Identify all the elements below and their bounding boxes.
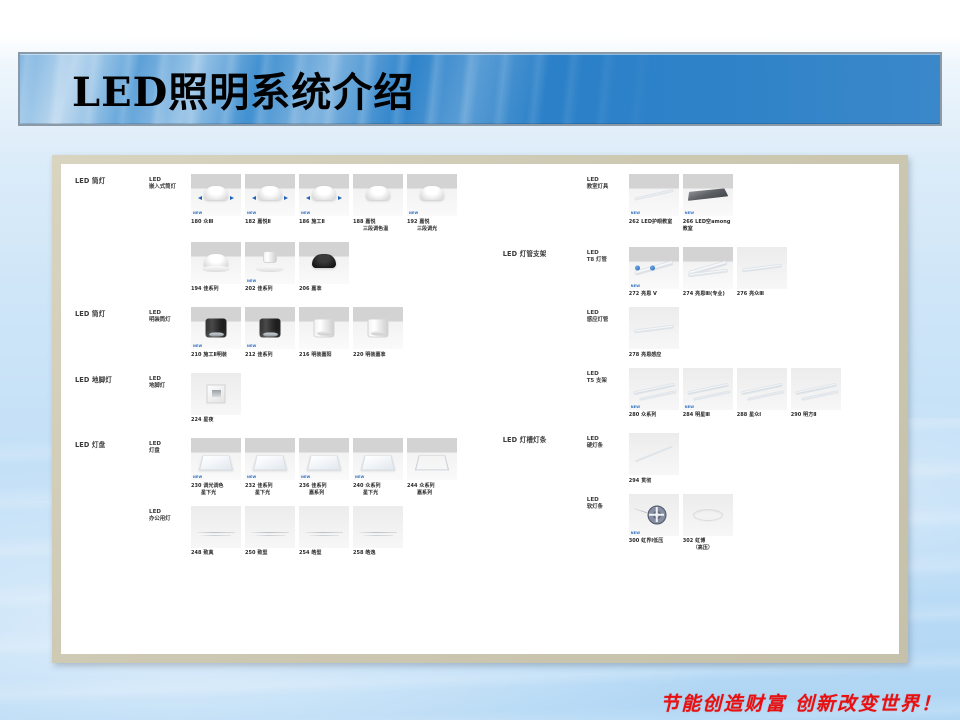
section-title: LED 筒灯 xyxy=(75,174,149,302)
product-caption: 290 明方Ⅱ xyxy=(791,412,841,419)
catalog-group: LED 教室灯具 NEW 262 LED护眼教室 NEW 266 LED空amo… xyxy=(587,174,899,233)
product-caption: 216 明装嘉阳 xyxy=(299,352,349,359)
catalog-item[interactable]: 248 致真 xyxy=(191,506,241,558)
section-groups: LED 嵌入式筒灯 NEW 180 众Ⅲ NEW 182 嘉悦Ⅱ NEW xyxy=(149,174,497,302)
product-name: 众Ⅲ xyxy=(203,219,213,225)
new-badge: NEW xyxy=(301,475,311,479)
group-items: 194 佳系列 NEW 202 佳系列 206 嘉准 xyxy=(191,242,497,294)
new-badge: NEW xyxy=(301,211,311,215)
t8-single-icon xyxy=(629,307,679,349)
group-title: LED 感应灯管 xyxy=(587,307,629,359)
group-items: NEW 210 施工Ⅱ明装 NEW 212 佳系列 216 明装嘉阳 xyxy=(191,307,497,359)
catalog-item[interactable]: NEW 210 施工Ⅱ明装 xyxy=(191,307,241,359)
group-title: LED T8 灯管 xyxy=(587,247,629,299)
product-number: 224 xyxy=(191,417,202,423)
product-thumbnail[interactable] xyxy=(683,247,733,289)
catalog-group: LED 感应灯管 278 亮恩感应 xyxy=(587,307,899,359)
product-number: 232 xyxy=(245,483,256,489)
product-caption: 230 调光调色 星下光 xyxy=(191,483,241,497)
catalog-item[interactable]: NEW 182 嘉悦Ⅱ xyxy=(245,174,295,233)
downlight-deep-icon xyxy=(191,242,241,284)
product-number: 274 xyxy=(683,291,694,297)
catalog-item[interactable]: NEW 240 众系列 星下光 xyxy=(353,438,403,497)
t5-icon xyxy=(683,368,733,410)
group-label-cn: 嵌入式筒灯 xyxy=(149,184,191,192)
product-number: 288 xyxy=(737,412,748,418)
section-title: LED 灯槽灯条 xyxy=(503,433,587,561)
downlight-arrows-icon xyxy=(245,174,295,216)
dark-fixture-icon xyxy=(683,174,733,216)
product-thumbnail[interactable]: NEW xyxy=(629,174,679,216)
product-name: 皓型 xyxy=(311,550,321,556)
section-groups: LED 教室灯具 NEW 262 LED护眼教室 NEW 266 LED空amo… xyxy=(587,174,899,242)
product-name: LED护眼教室 xyxy=(641,219,672,225)
product-number: 210 xyxy=(191,352,202,358)
catalog-section: LED 地脚灯 LED 地脚灯 224 星夜 xyxy=(75,373,497,434)
product-caption: 258 皓逸 xyxy=(353,550,403,557)
catalog-item[interactable]: NEW 230 调光调色 星下光 xyxy=(191,438,241,497)
product-name: 星夜 xyxy=(203,417,213,423)
product-thumbnail[interactable] xyxy=(629,433,679,475)
product-caption: 202 佳系列 xyxy=(245,286,295,293)
catalog-group: LED 嵌入式筒灯 NEW 180 众Ⅲ NEW 182 嘉悦Ⅱ NEW xyxy=(149,174,497,233)
product-name: 虹博 xyxy=(695,538,705,544)
product-caption: 232 佳系列 星下光 xyxy=(245,483,295,497)
catalog-page: LED 筒灯 LED 嵌入式筒灯 NEW 180 众Ⅲ NEW 182 嘉悦Ⅱ xyxy=(61,164,899,654)
product-thumbnail[interactable]: NEW xyxy=(353,438,403,480)
catalog-item[interactable]: NEW 266 LED空among教室 xyxy=(683,174,733,233)
catalog-group: LED 办公用灯 248 致真 250 致型 xyxy=(149,506,497,558)
group-title: LED 软灯条 xyxy=(587,494,629,553)
product-name: 明装嘉阳 xyxy=(311,352,331,358)
product-thumbnail[interactable]: NEW xyxy=(629,247,679,289)
new-badge: NEW xyxy=(409,211,419,215)
product-thumbnail[interactable] xyxy=(191,373,241,415)
product-caption: 288 星众Ⅰ xyxy=(737,412,787,419)
product-thumbnail[interactable] xyxy=(629,307,679,349)
new-badge: NEW xyxy=(247,344,257,348)
product-caption: 192 嘉悦 三段调光 xyxy=(407,219,457,233)
group-items: NEW 300 虹界Ⅰ低压 302 虹博 （高压） xyxy=(629,494,899,553)
cyl-light-icon xyxy=(299,307,349,349)
product-name: 施工Ⅱ xyxy=(311,219,324,225)
group-label-cn: 感应灯管 xyxy=(587,317,629,325)
t5-icon xyxy=(791,368,841,410)
catalog-item[interactable]: 258 皓逸 xyxy=(353,506,403,558)
product-number: 182 xyxy=(245,219,256,225)
office-bar-icon xyxy=(353,506,403,548)
catalog-item[interactable]: NEW 300 虹界Ⅰ低压 xyxy=(629,494,679,553)
new-badge: NEW xyxy=(193,344,203,348)
group-title: LED 办公用灯 xyxy=(149,506,191,558)
catalog-group: LED T5 支架 NEW 280 众系列 NEW 284 明星Ⅲ xyxy=(587,368,899,420)
catalog-item[interactable]: NEW 280 众系列 xyxy=(629,368,679,420)
product-thumbnail[interactable]: NEW xyxy=(245,438,295,480)
product-thumbnail[interactable] xyxy=(299,242,349,284)
section-groups: LED T8 灯管 NEW 272 亮恩 V 274 亮恩Ⅲ(专业) xyxy=(587,247,899,429)
product-thumbnail[interactable] xyxy=(737,247,787,289)
product-caption: 276 亮众Ⅲ xyxy=(737,291,787,298)
catalog-item[interactable]: 274 亮恩Ⅲ(专业) xyxy=(683,247,733,299)
product-sub-label: 星下光 xyxy=(245,490,295,497)
product-caption: 236 佳系列 嘉系列 xyxy=(299,483,349,497)
product-number: 206 xyxy=(299,286,310,292)
group-label-cn: 教室灯具 xyxy=(587,184,629,192)
group-items: NEW 280 众系列 NEW 284 明星Ⅲ 288 星众Ⅰ xyxy=(629,368,899,420)
product-caption: 272 亮恩 V xyxy=(629,291,679,298)
group-title: LED 灯盘 xyxy=(149,438,191,497)
product-thumbnail[interactable]: NEW xyxy=(191,174,241,216)
group-label-en: LED xyxy=(149,176,191,184)
panel-icon xyxy=(191,438,241,480)
product-thumbnail[interactable] xyxy=(407,438,457,480)
title-banner: LED照明系统介绍 xyxy=(18,52,942,126)
product-sub-label: 三段调色温 xyxy=(353,226,403,233)
group-label-cn: 地脚灯 xyxy=(149,383,191,391)
group-label-cn: 硬灯条 xyxy=(587,443,629,451)
catalog-item[interactable]: 224 星夜 xyxy=(191,373,241,425)
new-badge: NEW xyxy=(247,211,257,215)
product-name: 致真 xyxy=(203,550,213,556)
product-sub-label: 星下光 xyxy=(353,490,403,497)
new-badge: NEW xyxy=(685,405,695,409)
group-label-en: LED xyxy=(149,440,191,448)
product-name: 虹界Ⅰ低压 xyxy=(641,538,663,544)
product-sub-label: 星下光 xyxy=(191,490,241,497)
new-badge: NEW xyxy=(193,475,203,479)
group-title: LED 硬灯条 xyxy=(587,433,629,485)
product-number: 192 xyxy=(407,219,418,225)
catalog-item[interactable]: 250 致型 xyxy=(245,506,295,558)
product-name: 嘉准 xyxy=(311,286,321,292)
product-caption: 240 众系列 星下光 xyxy=(353,483,403,497)
catalog-item[interactable]: NEW 202 佳系列 xyxy=(245,242,295,294)
catalog-item[interactable]: 290 明方Ⅱ xyxy=(791,368,841,420)
catalog-section: LED 筒灯 LED 明装筒灯 NEW 210 施工Ⅱ明装 NEW 212 佳系… xyxy=(75,307,497,368)
product-name: 明装嘉准 xyxy=(365,352,385,358)
product-number: 236 xyxy=(299,483,310,489)
office-bar-icon xyxy=(245,506,295,548)
product-caption: 278 亮恩感应 xyxy=(629,352,679,359)
product-name: 众系列 xyxy=(641,412,656,418)
downlight-plain-icon xyxy=(407,174,457,216)
product-caption: 250 致型 xyxy=(245,550,295,557)
product-name: 致型 xyxy=(257,550,267,556)
new-badge: NEW xyxy=(631,405,641,409)
catalog-group: LED 软灯条 NEW 300 虹界Ⅰ低压 302 虹博 （高压） xyxy=(587,494,899,553)
product-name: 贯彻 xyxy=(641,478,651,484)
product-name: 亮恩Ⅲ(专业) xyxy=(695,291,725,297)
product-number: 284 xyxy=(683,412,694,418)
product-caption: 300 虹界Ⅰ低压 xyxy=(629,538,679,545)
product-sub-label: 嘉系列 xyxy=(299,490,349,497)
product-caption: 188 嘉悦 三段调色温 xyxy=(353,219,403,233)
cyl-dark-icon xyxy=(245,307,295,349)
new-badge: NEW xyxy=(247,279,257,283)
catalog-item[interactable]: NEW 236 佳系列 嘉系列 xyxy=(299,438,349,497)
product-thumbnail[interactable] xyxy=(191,242,241,284)
product-thumbnail[interactable]: NEW xyxy=(683,174,733,216)
coil-icon xyxy=(683,494,733,536)
section-title xyxy=(503,174,587,242)
product-thumbnail[interactable] xyxy=(191,506,241,548)
group-label-cn: 办公用灯 xyxy=(149,516,191,524)
slide-canvas: LED照明系统介绍 LED 筒灯 LED 嵌入式筒灯 NEW 180 众Ⅲ NE… xyxy=(0,0,960,720)
group-label-en: LED xyxy=(587,176,629,184)
group-label-en: LED xyxy=(149,375,191,383)
product-name: 佳系列 xyxy=(257,483,272,489)
catalog-item[interactable]: NEW 232 佳系列 星下光 xyxy=(245,438,295,497)
product-caption: 280 众系列 xyxy=(629,412,679,419)
product-number: 276 xyxy=(737,291,748,297)
catalog-section: LED 灯槽灯条 LED 硬灯条 294 贯彻 LED 软灯条 NEW xyxy=(503,433,899,561)
product-name: 亮众Ⅲ xyxy=(749,291,764,297)
catalog-item[interactable]: 254 皓型 xyxy=(299,506,349,558)
product-caption: 186 施工Ⅱ xyxy=(299,219,349,226)
product-caption: 254 皓型 xyxy=(299,550,349,557)
product-name: 佳系列 xyxy=(311,483,326,489)
panel-icon xyxy=(299,438,349,480)
product-thumbnail[interactable]: NEW xyxy=(245,242,295,284)
new-badge: NEW xyxy=(247,475,257,479)
section-title: LED 地脚灯 xyxy=(75,373,149,434)
catalog-group: 194 佳系列 NEW 202 佳系列 206 嘉准 xyxy=(149,242,497,294)
office-bar-icon xyxy=(191,506,241,548)
product-number: 280 xyxy=(629,412,640,418)
group-title xyxy=(149,242,191,294)
catalog-group: LED 灯盘 NEW 230 调光调色 星下光 NEW 232 佳系列 星下光 … xyxy=(149,438,497,497)
product-thumbnail[interactable]: NEW xyxy=(629,494,679,536)
pendant-tube-icon xyxy=(629,174,679,216)
group-label-en: LED xyxy=(587,370,629,378)
product-thumbnail[interactable]: NEW xyxy=(299,174,349,216)
product-number: 216 xyxy=(299,352,310,358)
catalog-left-column: LED 筒灯 LED 嵌入式筒灯 NEW 180 众Ⅲ NEW 182 嘉悦Ⅱ xyxy=(61,174,497,654)
product-name: 星众Ⅰ xyxy=(749,412,761,418)
product-caption: 248 致真 xyxy=(191,550,241,557)
group-items: 248 致真 250 致型 254 皓型 xyxy=(191,506,497,558)
product-caption: 262 LED护眼教室 xyxy=(629,219,679,226)
section-title: LED 筒灯 xyxy=(75,307,149,368)
product-number: 250 xyxy=(245,550,256,556)
section-groups: LED 地脚灯 224 星夜 xyxy=(149,373,497,434)
cyl-dark-icon xyxy=(191,307,241,349)
catalog-item[interactable]: 220 明装嘉准 xyxy=(353,307,403,359)
group-items: 224 星夜 xyxy=(191,373,497,425)
downlight-plain-icon xyxy=(353,174,403,216)
product-number: 302 xyxy=(683,538,694,544)
product-number: 300 xyxy=(629,538,640,544)
downlight-arrows-icon xyxy=(299,174,349,216)
product-thumbnail[interactable]: NEW xyxy=(191,438,241,480)
product-thumbnail[interactable]: NEW xyxy=(191,307,241,349)
group-label-cn: 软灯条 xyxy=(587,504,629,512)
catalog-section: LED 灯管支架 LED T8 灯管 NEW 272 亮恩 V 274 亮恩Ⅲ(… xyxy=(503,247,899,429)
product-sub-label: 三段调光 xyxy=(407,226,457,233)
product-name: 嘉悦 xyxy=(365,219,375,225)
product-sub-label: （高压） xyxy=(683,545,733,552)
product-caption: 274 亮恩Ⅲ(专业) xyxy=(683,291,733,298)
product-name: 佳系列 xyxy=(257,352,272,358)
group-items: 294 贯彻 xyxy=(629,433,899,485)
catalog-item[interactable]: 216 明装嘉阳 xyxy=(299,307,349,359)
catalog-frame: LED 筒灯 LED 嵌入式筒灯 NEW 180 众Ⅲ NEW 182 嘉悦Ⅱ xyxy=(52,155,908,663)
product-thumbnail[interactable] xyxy=(683,494,733,536)
product-thumbnail[interactable] xyxy=(353,174,403,216)
catalog-item[interactable]: NEW 192 嘉悦 三段调光 xyxy=(407,174,457,233)
product-thumbnail[interactable]: NEW xyxy=(299,438,349,480)
catalog-item[interactable]: 278 亮恩感应 xyxy=(629,307,679,359)
group-title: LED 地脚灯 xyxy=(149,373,191,425)
new-badge: NEW xyxy=(193,211,203,215)
panel-outline-icon xyxy=(407,438,457,480)
downlight-arrows-icon xyxy=(191,174,241,216)
group-items: NEW 272 亮恩 V 274 亮恩Ⅲ(专业) 276 亮众Ⅲ xyxy=(629,247,899,299)
product-caption: 210 施工Ⅱ明装 xyxy=(191,352,241,359)
product-thumbnail[interactable] xyxy=(791,368,841,410)
product-caption: 266 LED空among教室 xyxy=(683,219,733,233)
product-caption: 284 明星Ⅲ xyxy=(683,412,733,419)
cyl-light-icon xyxy=(353,307,403,349)
catalog-item[interactable]: 194 佳系列 xyxy=(191,242,241,294)
product-caption: 244 众系列 嘉系列 xyxy=(407,483,457,497)
product-name: 调光调色 xyxy=(203,483,223,489)
product-caption: 180 众Ⅲ xyxy=(191,219,241,226)
product-thumbnail[interactable]: NEW xyxy=(245,174,295,216)
product-caption: 302 虹博 （高压） xyxy=(683,538,733,552)
product-thumbnail[interactable] xyxy=(245,506,295,548)
product-name: 众系列 xyxy=(419,483,434,489)
section-title: LED 灯管支架 xyxy=(503,247,587,429)
product-number: 272 xyxy=(629,291,640,297)
product-thumbnail[interactable]: NEW xyxy=(407,174,457,216)
product-thumbnail[interactable]: NEW xyxy=(683,368,733,410)
group-label-en: LED xyxy=(587,309,629,317)
floor-light-icon xyxy=(191,373,241,415)
footer-slogan: 节能创造财富 创新改变世界！ xyxy=(660,689,942,716)
group-items: NEW 180 众Ⅲ NEW 182 嘉悦Ⅱ NEW 186 施工Ⅱ xyxy=(191,174,497,233)
group-title: LED T5 支架 xyxy=(587,368,629,420)
group-title: LED 嵌入式筒灯 xyxy=(149,174,191,233)
reel-icon xyxy=(629,494,679,536)
catalog-item[interactable]: 188 嘉悦 三段调色温 xyxy=(353,174,403,233)
product-caption: 220 明装嘉准 xyxy=(353,352,403,359)
group-label-en: LED xyxy=(587,435,629,443)
group-label-en: LED xyxy=(587,496,629,504)
catalog-section: LED 筒灯 LED 嵌入式筒灯 NEW 180 众Ⅲ NEW 182 嘉悦Ⅱ xyxy=(75,174,497,302)
catalog-item[interactable]: NEW 212 佳系列 xyxy=(245,307,295,359)
product-name: 众系列 xyxy=(365,483,380,489)
catalog-group: LED T8 灯管 NEW 272 亮恩 V 274 亮恩Ⅲ(专业) xyxy=(587,247,899,299)
t5-icon xyxy=(737,368,787,410)
new-badge: NEW xyxy=(631,211,641,215)
new-badge: NEW xyxy=(355,475,365,479)
downlight-dark-icon xyxy=(299,242,349,284)
product-name: 佳系列 xyxy=(257,286,272,292)
product-number: 254 xyxy=(299,550,310,556)
catalog-item[interactable]: NEW 262 LED护眼教室 xyxy=(629,174,679,233)
product-name: 嘉悦Ⅱ xyxy=(257,219,270,225)
product-thumbnail[interactable] xyxy=(737,368,787,410)
catalog-item[interactable]: 294 贯彻 xyxy=(629,433,679,485)
product-thumbnail[interactable]: NEW xyxy=(629,368,679,410)
product-name: 明星Ⅲ xyxy=(695,412,710,418)
product-caption: 194 佳系列 xyxy=(191,286,241,293)
panel-icon xyxy=(245,438,295,480)
office-bar-icon xyxy=(299,506,349,548)
product-number: 240 xyxy=(353,483,364,489)
catalog-group: LED 明装筒灯 NEW 210 施工Ⅱ明装 NEW 212 佳系列 xyxy=(149,307,497,359)
rigid-strip-icon xyxy=(629,433,679,475)
group-items: NEW 230 调光调色 星下光 NEW 232 佳系列 星下光 NEW 236… xyxy=(191,438,497,497)
catalog-section: LED 教室灯具 NEW 262 LED护眼教室 NEW 266 LED空amo… xyxy=(503,174,899,242)
catalog-item[interactable]: 302 虹博 （高压） xyxy=(683,494,733,553)
product-thumbnail[interactable] xyxy=(353,506,403,548)
t8-single-icon xyxy=(737,247,787,289)
catalog-item[interactable]: 288 星众Ⅰ xyxy=(737,368,787,420)
catalog-section: LED 灯盘 LED 灯盘 NEW 230 调光调色 星下光 NEW 232 佳… xyxy=(75,438,497,566)
product-thumbnail[interactable] xyxy=(299,307,349,349)
product-number: 230 xyxy=(191,483,202,489)
product-thumbnail[interactable] xyxy=(299,506,349,548)
product-number: 258 xyxy=(353,550,364,556)
new-badge: NEW xyxy=(631,284,641,288)
product-name: 皓逸 xyxy=(365,550,375,556)
group-items: NEW 262 LED护眼教室 NEW 266 LED空among教室 xyxy=(629,174,899,233)
catalog-item[interactable]: NEW 180 众Ⅲ xyxy=(191,174,241,233)
product-number: 188 xyxy=(353,219,364,225)
product-name: 明方Ⅱ xyxy=(803,412,816,418)
catalog-item[interactable]: 206 嘉准 xyxy=(299,242,349,294)
product-name: 亮恩 V xyxy=(641,291,657,297)
section-groups: LED 明装筒灯 NEW 210 施工Ⅱ明装 NEW 212 佳系列 xyxy=(149,307,497,368)
section-groups: LED 硬灯条 294 贯彻 LED 软灯条 NEW 300 虹界Ⅰ低压 xyxy=(587,433,899,561)
product-name: 佳系列 xyxy=(203,286,218,292)
product-number: 278 xyxy=(629,352,640,358)
catalog-item[interactable]: NEW 186 施工Ⅱ xyxy=(299,174,349,233)
catalog-item[interactable]: NEW 284 明星Ⅲ xyxy=(683,368,733,420)
t8-двух-icon xyxy=(683,247,733,289)
product-caption: 182 嘉悦Ⅱ xyxy=(245,219,295,226)
product-number: 248 xyxy=(191,550,202,556)
group-title: LED 明装筒灯 xyxy=(149,307,191,359)
section-groups: LED 灯盘 NEW 230 调光调色 星下光 NEW 232 佳系列 星下光 … xyxy=(149,438,497,566)
group-label-cn: 灯盘 xyxy=(149,448,191,456)
product-number: 186 xyxy=(299,219,310,225)
panel-icon xyxy=(353,438,403,480)
downlight-ring-icon xyxy=(245,242,295,284)
product-number: 262 xyxy=(629,219,640,225)
catalog-item[interactable]: 276 亮众Ⅲ xyxy=(737,247,787,299)
product-caption: 212 佳系列 xyxy=(245,352,295,359)
group-title: LED 教室灯具 xyxy=(587,174,629,233)
catalog-item[interactable]: 244 众系列 嘉系列 xyxy=(407,438,457,497)
page-title: LED照明系统介绍 xyxy=(72,60,414,118)
catalog-group: LED 地脚灯 224 星夜 xyxy=(149,373,497,425)
group-label-cn: T5 支架 xyxy=(587,378,629,386)
product-thumbnail[interactable]: NEW xyxy=(245,307,295,349)
t5-icon xyxy=(629,368,679,410)
product-number: 294 xyxy=(629,478,640,484)
catalog-item[interactable]: NEW 272 亮恩 V xyxy=(629,247,679,299)
product-number: 212 xyxy=(245,352,256,358)
product-name: 亮恩感应 xyxy=(641,352,661,358)
product-number: 220 xyxy=(353,352,364,358)
new-badge: NEW xyxy=(685,211,695,215)
new-badge: NEW xyxy=(631,531,641,535)
product-thumbnail[interactable] xyxy=(353,307,403,349)
group-label-en: LED xyxy=(587,249,629,257)
